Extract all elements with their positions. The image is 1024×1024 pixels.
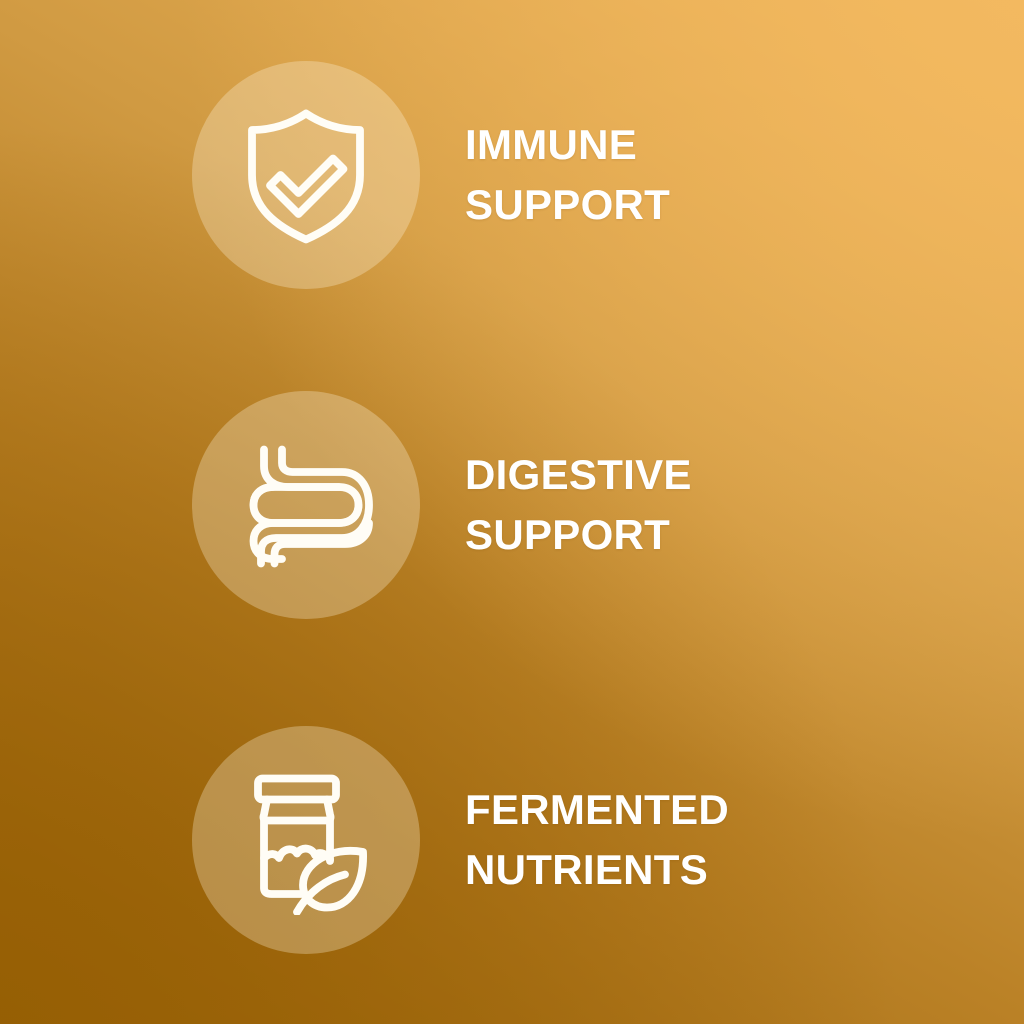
benefit-label-immune: IMMUNE SUPPORT (465, 115, 670, 234)
shield-check-icon (231, 100, 381, 250)
benefit-item-fermented-nutrients: FERMENTED NUTRIENTS (0, 720, 1024, 960)
icon-badge-immune (192, 61, 420, 289)
benefit-item-digestive-support: DIGESTIVE SUPPORT (0, 385, 1024, 625)
benefit-item-immune-support: IMMUNE SUPPORT (0, 55, 1024, 295)
fermentation-jar-leaf-icon (231, 765, 381, 915)
icon-badge-digestive (192, 391, 420, 619)
icon-badge-fermented (192, 726, 420, 954)
benefit-label-fermented: FERMENTED NUTRIENTS (465, 780, 729, 899)
benefit-label-digestive: DIGESTIVE SUPPORT (465, 445, 692, 564)
benefits-panel: IMMUNE SUPPORT DIGESTIVE SUPPORT (0, 0, 1024, 1024)
intestine-icon (231, 430, 381, 580)
